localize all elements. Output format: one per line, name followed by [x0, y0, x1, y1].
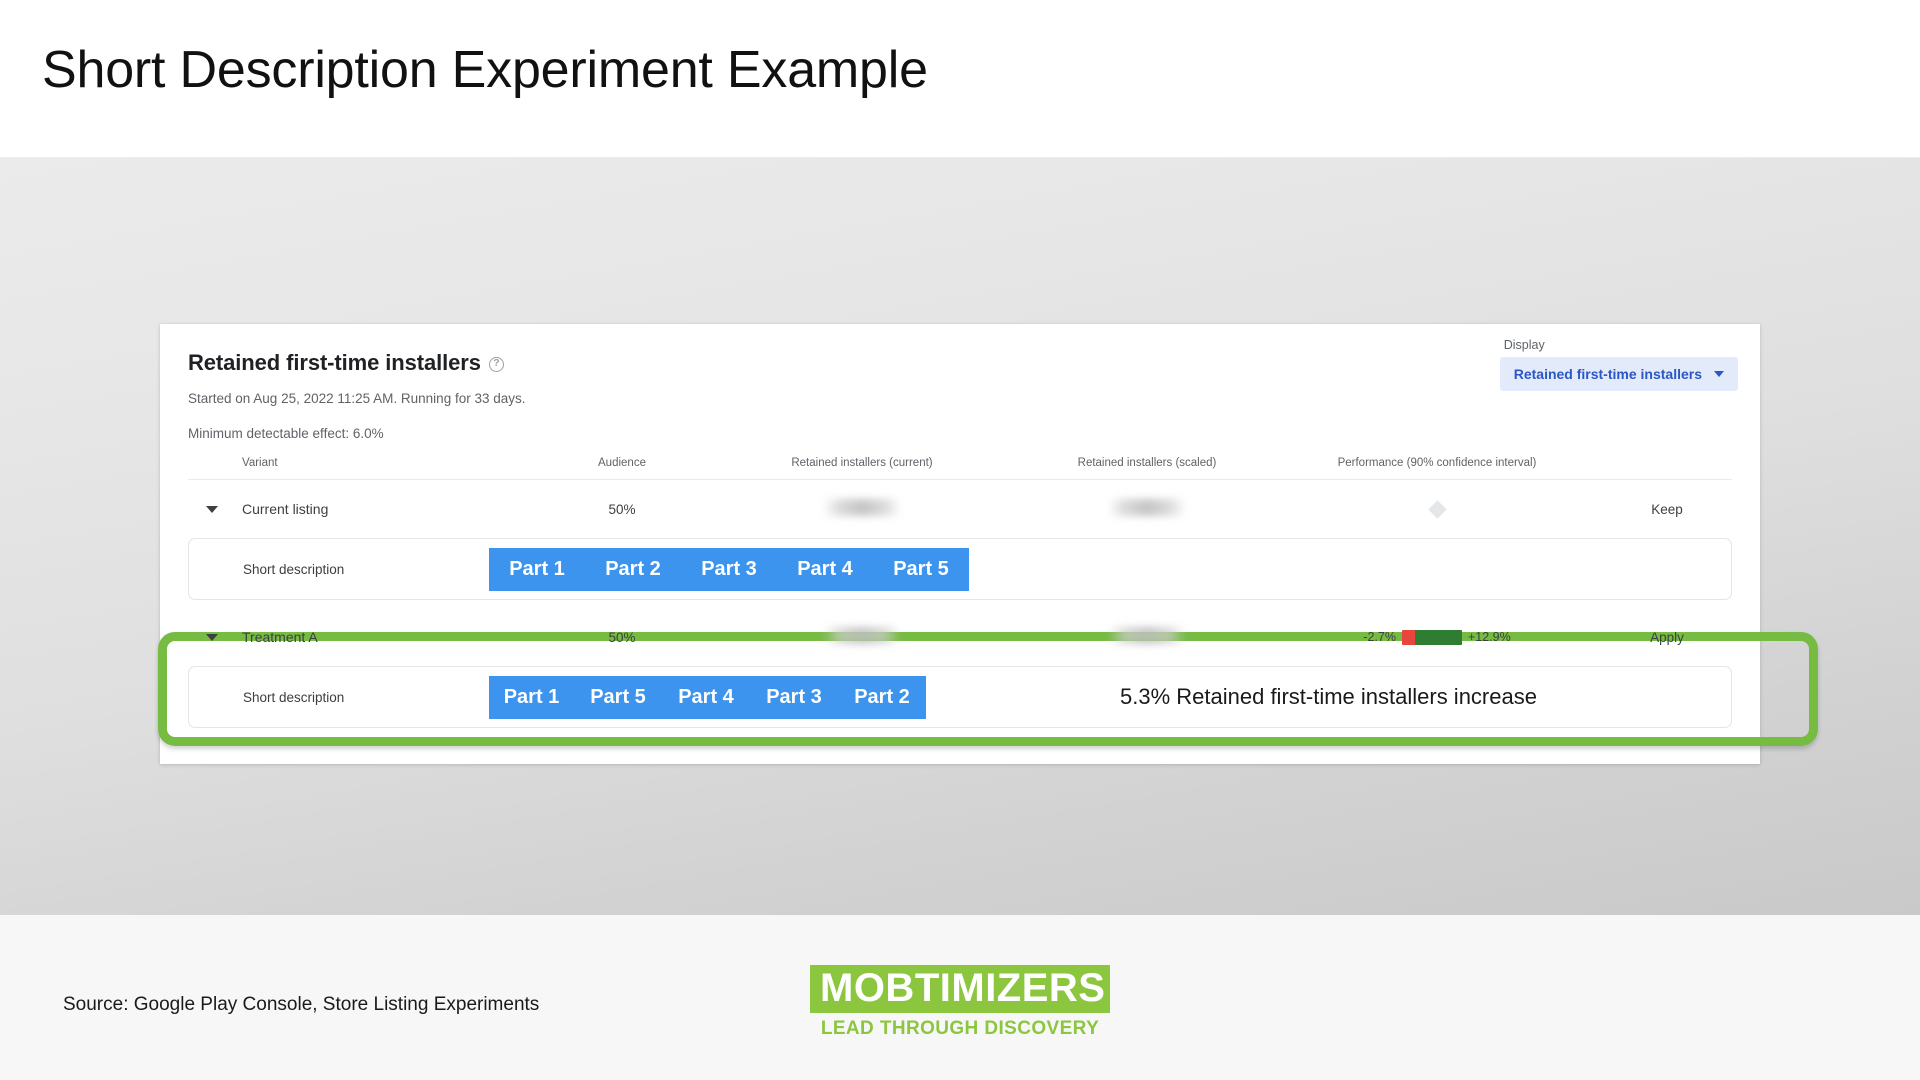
performance-cell: -2.7% +12.9% — [1272, 630, 1602, 645]
retained-scaled-value — [1022, 499, 1272, 519]
redacted-value — [1108, 627, 1186, 644]
part-chip: Part 1 — [489, 548, 585, 591]
ci-positive-segment — [1415, 630, 1462, 645]
diamond-marker-icon — [1428, 500, 1446, 518]
header-variant: Variant — [242, 457, 542, 469]
apply-button[interactable]: Apply — [1650, 630, 1684, 645]
header-audience: Audience — [542, 457, 702, 469]
short-description-parts: Part 1 Part 5 Part 4 Part 3 Part 2 — [489, 676, 926, 719]
card-header: Retained first-time installers ? Started… — [160, 324, 1760, 444]
ci-negative-segment — [1402, 630, 1415, 645]
short-description-panel: Short description Part 1 Part 5 Part 4 P… — [188, 666, 1732, 728]
card-title: Retained first-time installers — [188, 350, 481, 376]
source-text: Source: Google Play Console, Store Listi… — [63, 994, 539, 1016]
card-title-row: Retained first-time installers ? — [188, 350, 504, 376]
triangle-down-icon[interactable] — [206, 634, 218, 641]
triangle-down-icon[interactable] — [206, 506, 218, 513]
short-description-parts: Part 1 Part 2 Part 3 Part 4 Part 5 — [489, 548, 969, 591]
retained-scaled-value — [1022, 627, 1272, 647]
part-chip: Part 4 — [662, 676, 750, 719]
logo-tagline: LEAD THROUGH DISCOVERY — [810, 1018, 1110, 1040]
table-row[interactable]: Current listing 50% Keep — [188, 480, 1732, 538]
part-chip: Part 3 — [681, 548, 777, 591]
redacted-value — [823, 499, 901, 516]
part-chip: Part 3 — [750, 676, 838, 719]
display-metric-dropdown[interactable]: Retained first-time installers — [1500, 357, 1738, 391]
display-label: Display — [1500, 338, 1738, 352]
header-performance: Performance (90% confidence interval) — [1272, 457, 1602, 469]
part-chip: Part 2 — [838, 676, 926, 719]
result-note: 5.3% Retained first-time installers incr… — [926, 684, 1731, 710]
retained-current-value — [702, 627, 1022, 647]
performance-cell — [1272, 503, 1602, 516]
help-circle-icon[interactable]: ? — [489, 357, 504, 372]
short-description-label: Short description — [189, 690, 489, 705]
row-toggle-cell[interactable] — [188, 506, 242, 513]
experiment-card: Retained first-time installers ? Started… — [160, 324, 1760, 764]
audience-value: 50% — [542, 502, 702, 517]
variant-name: Treatment A — [242, 629, 542, 645]
minimum-detectable-effect-text: Minimum detectable effect: 6.0% — [188, 426, 384, 441]
variants-table: Variant Audience Retained installers (cu… — [188, 446, 1732, 728]
variant-name: Current listing — [242, 501, 542, 517]
row-action-cell[interactable]: Keep — [1602, 501, 1732, 517]
table-row[interactable]: Treatment A 50% -2.7% +12.9% — [188, 608, 1732, 666]
confidence-interval: -2.7% +12.9% — [1363, 630, 1510, 645]
header-retained-scaled: Retained installers (scaled) — [1022, 457, 1272, 469]
short-description-panel: Short description Part 1 Part 2 Part 3 P… — [188, 538, 1732, 600]
slide-footer: Source: Google Play Console, Store Listi… — [0, 915, 1920, 1080]
part-chip: Part 5 — [574, 676, 662, 719]
logo-wordmark: MOBTIMIZERS — [810, 965, 1110, 1013]
confidence-interval-bar — [1402, 630, 1462, 645]
title-band: Short Description Experiment Example — [0, 0, 1920, 158]
part-chip: Part 5 — [873, 548, 969, 591]
experiment-started-text: Started on Aug 25, 2022 11:25 AM. Runnin… — [188, 391, 526, 406]
display-control: Display Retained first-time installers — [1500, 338, 1738, 391]
part-chip: Part 1 — [489, 676, 574, 719]
part-chip: Part 2 — [585, 548, 681, 591]
row-toggle-cell[interactable] — [188, 634, 242, 641]
ci-upper-bound: +12.9% — [1468, 630, 1511, 644]
page-title: Short Description Experiment Example — [42, 40, 928, 100]
keep-button[interactable]: Keep — [1651, 502, 1683, 517]
row-action-cell[interactable]: Apply — [1602, 629, 1732, 645]
table-header-row: Variant Audience Retained installers (cu… — [188, 446, 1732, 480]
audience-value: 50% — [542, 630, 702, 645]
retained-current-value — [702, 499, 1022, 519]
display-metric-value: Retained first-time installers — [1514, 366, 1702, 382]
part-chip: Part 4 — [777, 548, 873, 591]
short-description-label: Short description — [189, 562, 489, 577]
mobtimizers-logo: MOBTIMIZERS LEAD THROUGH DISCOVERY — [810, 965, 1110, 1040]
chevron-down-icon — [1714, 371, 1724, 377]
redacted-value — [1108, 499, 1186, 516]
ci-lower-bound: -2.7% — [1363, 630, 1396, 644]
redacted-value — [823, 627, 901, 644]
header-retained-current: Retained installers (current) — [702, 457, 1022, 469]
